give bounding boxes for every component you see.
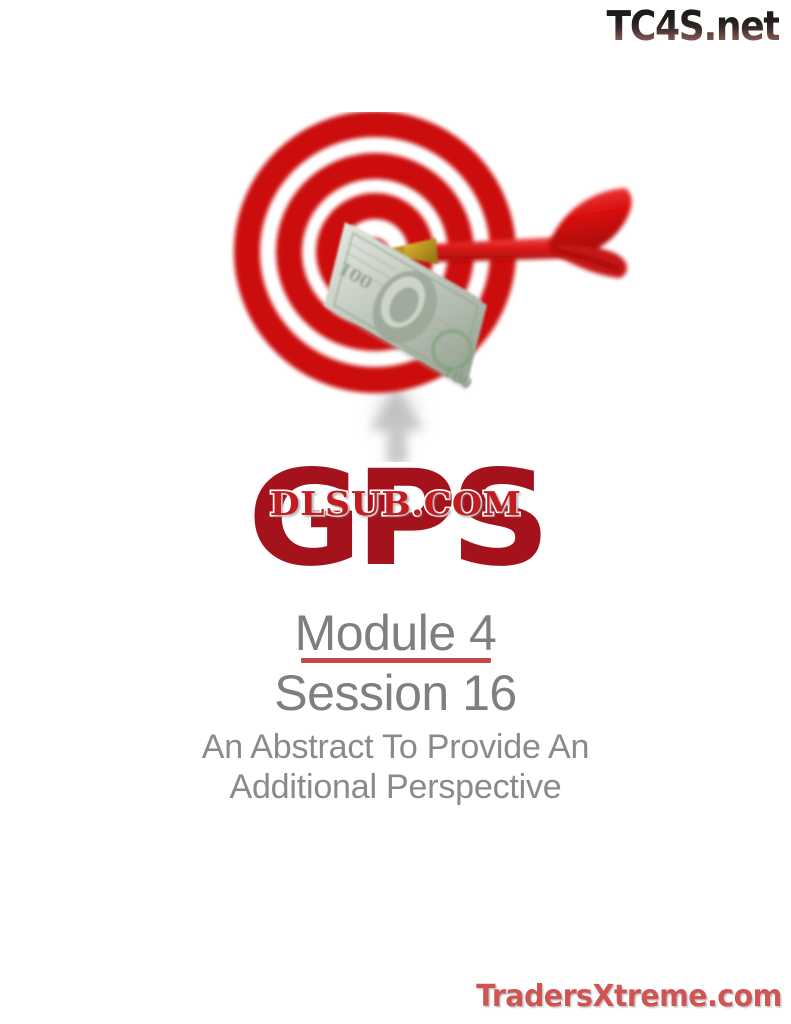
module-title: Module 4 bbox=[0, 604, 791, 662]
title-block: Module 4 Session 16 An Abstract To Provi… bbox=[0, 604, 791, 807]
brand-logo-tc4s: TC4S.net bbox=[606, 6, 779, 47]
session-title: Session 16 bbox=[0, 664, 791, 722]
dart-fletching bbox=[548, 188, 632, 278]
target-dart-money-illustration: 100 100 bbox=[0, 112, 791, 462]
gps-logo-block: GPS DLSUB.COM bbox=[0, 452, 791, 602]
subtitle-line-1: An Abstract To Provide An bbox=[0, 727, 791, 767]
subtitle-line-2: Additional Perspective bbox=[0, 767, 791, 807]
brand-logo-tradersxtreme: TradersXtreme.com bbox=[476, 982, 782, 1012]
subtitle-block: An Abstract To Provide An Additional Per… bbox=[0, 727, 791, 807]
dlsub-watermark: DLSUB.COM bbox=[0, 485, 791, 523]
title-slide-page: TC4S.net bbox=[0, 0, 791, 1024]
